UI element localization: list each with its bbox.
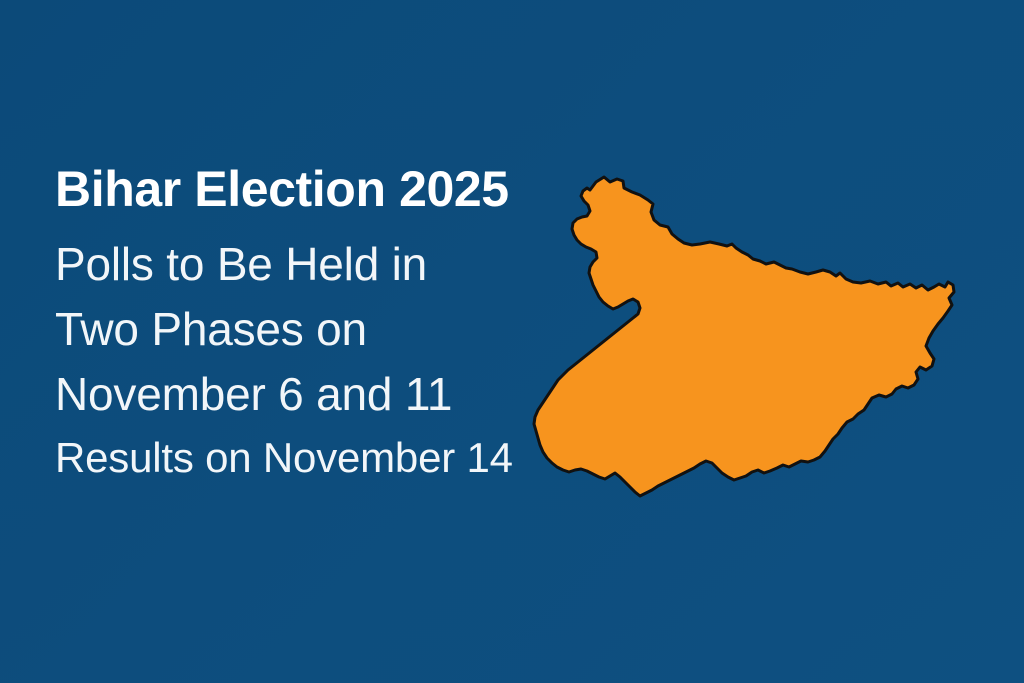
subheadline-line-3: November 6 and 11 (55, 362, 575, 427)
subheadline-line-2: Two Phases on (55, 297, 575, 362)
results-date-text: Results on November 14 (55, 427, 575, 489)
bihar-map-container (520, 160, 990, 510)
bihar-state-outline-path (534, 177, 954, 496)
page-title: Bihar Election 2025 (55, 160, 575, 218)
bihar-state-map-icon (520, 160, 990, 510)
headline-text-block: Bihar Election 2025 Polls to Be Held in … (55, 160, 575, 489)
poster-canvas: Bihar Election 2025 Polls to Be Held in … (0, 0, 1024, 683)
subheadline-line-1: Polls to Be Held in (55, 232, 575, 297)
